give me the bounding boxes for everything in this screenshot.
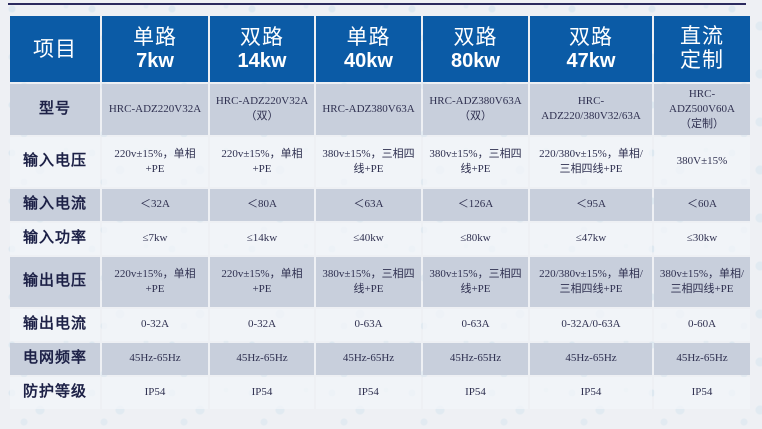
table-cell: 0-63A	[423, 309, 528, 341]
table-cell: IP54	[654, 377, 750, 409]
table-cell: ＜126A	[423, 189, 528, 221]
table-cell: ＜80A	[210, 189, 314, 221]
table-cell: 380v±15%，单相/三相四线+PE	[654, 257, 750, 307]
column-header-title: 单路	[105, 25, 205, 49]
table-cell: HRC-ADZ500V60A（定制）	[654, 84, 750, 135]
table-cell: 380v±15%，三相四线+PE	[423, 257, 528, 307]
table-cell: IP54	[316, 377, 421, 409]
table-cell: 0-63A	[316, 309, 421, 341]
column-header-item: 项目	[10, 16, 100, 82]
column-header-dual-80kw: 双路 80kw	[423, 16, 528, 82]
table-cell: 0-32A	[210, 309, 314, 341]
column-header-title: 项目	[13, 37, 97, 61]
table-header: 项目 单路 7kw 双路 14kw 单路 40kw 双路 80kw	[10, 16, 750, 82]
table-cell: ≤80kw	[423, 223, 528, 255]
table-cell: 45Hz-65Hz	[654, 343, 750, 375]
table-cell: ≤14kw	[210, 223, 314, 255]
table-cell: 380v±15%，三相四线+PE	[423, 137, 528, 187]
column-header-subtitle: 80kw	[426, 49, 525, 73]
row-label: 输出电流	[10, 309, 100, 341]
table-cell: 220v±15%，单相+PE	[102, 137, 208, 187]
table-cell: 220v±15%，单相+PE	[210, 257, 314, 307]
table-cell: 380v±15%，三相四线+PE	[316, 257, 421, 307]
table-header-row: 项目 单路 7kw 双路 14kw 单路 40kw 双路 80kw	[10, 16, 750, 82]
row-label: 输出电压	[10, 257, 100, 307]
column-header-subtitle: 40kw	[319, 49, 418, 73]
table-cell: HRC-ADZ220/380V32/63A	[530, 84, 652, 135]
table-row: 输入电流＜32A＜80A＜63A＜126A＜95A＜60A	[10, 189, 750, 221]
column-header-title: 单路	[319, 25, 418, 49]
table-cell: HRC-ADZ220V32A（双）	[210, 84, 314, 135]
table-cell: ＜32A	[102, 189, 208, 221]
top-divider-rule	[8, 3, 746, 5]
column-header-subtitle: 定制	[657, 48, 747, 73]
column-header-title: 直流	[657, 24, 747, 48]
table-cell: ≤30kw	[654, 223, 750, 255]
table-row: 输入功率≤7kw≤14kw≤40kw≤80kw≤47kw≤30kw	[10, 223, 750, 255]
table-cell: 220v±15%，单相+PE	[102, 257, 208, 307]
table-cell: IP54	[102, 377, 208, 409]
column-header-dc-custom: 直流 定制	[654, 16, 750, 82]
table-cell: IP54	[530, 377, 652, 409]
table-cell: 45Hz-65Hz	[423, 343, 528, 375]
table-cell: 380v±15%，三相四线+PE	[316, 137, 421, 187]
table-row: 输出电流0-32A0-32A0-63A0-63A0-32A/0-63A0-60A	[10, 309, 750, 341]
column-header-title: 双路	[426, 25, 525, 49]
table-cell: ≤40kw	[316, 223, 421, 255]
table-cell: HRC-ADZ380V63A	[316, 84, 421, 135]
table-cell: 220/380v±15%，单相/三相四线+PE	[530, 257, 652, 307]
table-cell: 45Hz-65Hz	[210, 343, 314, 375]
table-cell: 0-60A	[654, 309, 750, 341]
table-cell: IP54	[210, 377, 314, 409]
table-cell: IP54	[423, 377, 528, 409]
row-label: 输入电流	[10, 189, 100, 221]
column-header-subtitle: 7kw	[105, 49, 205, 73]
table-cell: HRC-ADZ380V63A（双）	[423, 84, 528, 135]
column-header-dual-14kw: 双路 14kw	[210, 16, 314, 82]
row-label: 防护等级	[10, 377, 100, 409]
row-label: 电网频率	[10, 343, 100, 375]
column-header-single-40kw: 单路 40kw	[316, 16, 421, 82]
row-label: 输入功率	[10, 223, 100, 255]
row-label: 输入电压	[10, 137, 100, 187]
table-cell: 45Hz-65Hz	[316, 343, 421, 375]
table-cell: 380V±15%	[654, 137, 750, 187]
table-row: 输入电压220v±15%，单相+PE220v±15%，单相+PE380v±15%…	[10, 137, 750, 187]
table-cell: ＜60A	[654, 189, 750, 221]
row-label: 型号	[10, 84, 100, 135]
table-cell: ≤7kw	[102, 223, 208, 255]
table-cell: 220v±15%，单相+PE	[210, 137, 314, 187]
table-row: 电网频率45Hz-65Hz45Hz-65Hz45Hz-65Hz45Hz-65Hz…	[10, 343, 750, 375]
table-cell: 45Hz-65Hz	[102, 343, 208, 375]
table-cell: 0-32A	[102, 309, 208, 341]
spec-table-container: 项目 单路 7kw 双路 14kw 单路 40kw 双路 80kw	[8, 14, 748, 411]
table-cell: HRC-ADZ220V32A	[102, 84, 208, 135]
table-cell: 0-32A/0-63A	[530, 309, 652, 341]
table-body: 型号HRC-ADZ220V32AHRC-ADZ220V32A（双）HRC-ADZ…	[10, 84, 750, 409]
column-header-dual-47kw: 双路 47kw	[530, 16, 652, 82]
column-header-subtitle: 47kw	[533, 49, 649, 73]
table-row: 型号HRC-ADZ220V32AHRC-ADZ220V32A（双）HRC-ADZ…	[10, 84, 750, 135]
column-header-subtitle: 14kw	[213, 49, 311, 73]
column-header-title: 双路	[533, 25, 649, 49]
column-header-title: 双路	[213, 25, 311, 49]
table-cell: 45Hz-65Hz	[530, 343, 652, 375]
table-row: 输出电压220v±15%，单相+PE220v±15%，单相+PE380v±15%…	[10, 257, 750, 307]
specification-table: 项目 单路 7kw 双路 14kw 单路 40kw 双路 80kw	[8, 14, 752, 411]
table-row: 防护等级IP54IP54IP54IP54IP54IP54	[10, 377, 750, 409]
table-cell: ＜63A	[316, 189, 421, 221]
table-cell: ≤47kw	[530, 223, 652, 255]
table-cell: ＜95A	[530, 189, 652, 221]
table-cell: 220/380v±15%，单相/三相四线+PE	[530, 137, 652, 187]
column-header-single-7kw: 单路 7kw	[102, 16, 208, 82]
